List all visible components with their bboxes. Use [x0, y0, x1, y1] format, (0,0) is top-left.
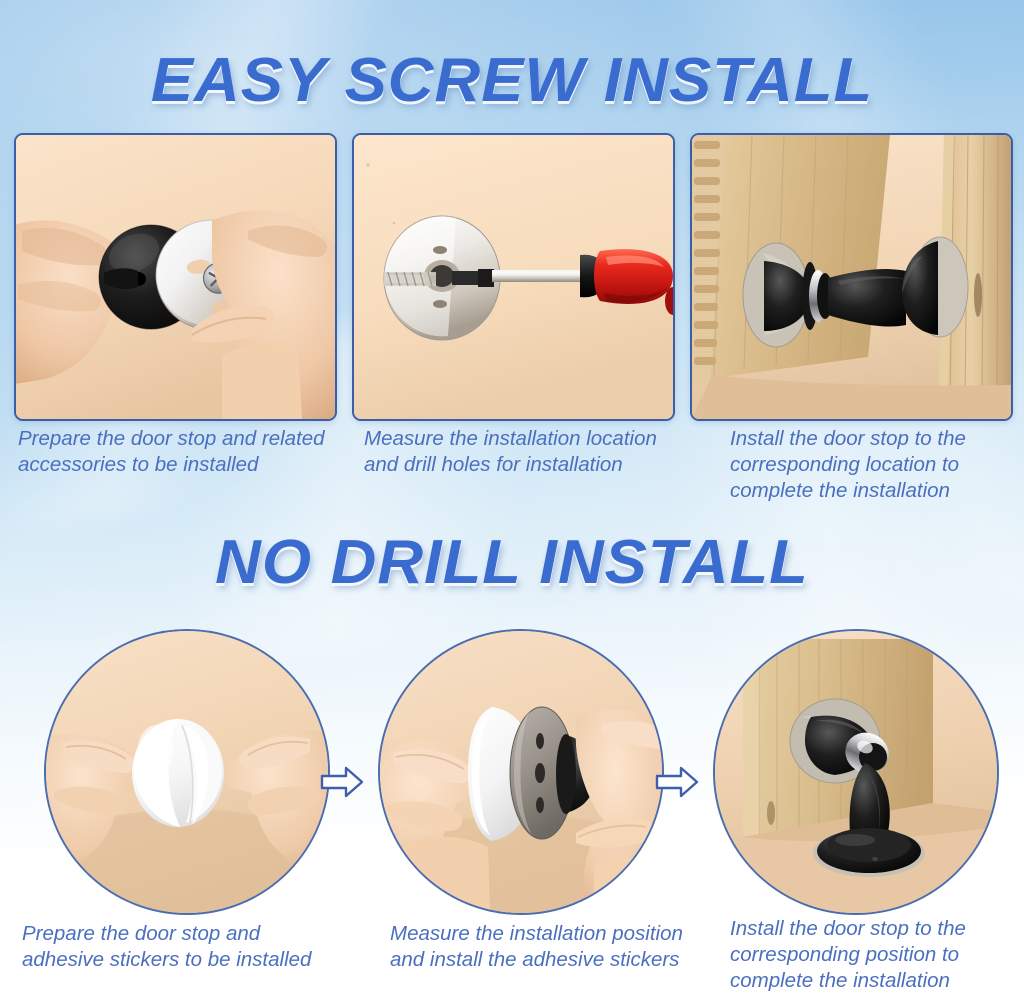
step-image-attach-stickers	[378, 629, 664, 915]
arrow-right-icon-1	[320, 765, 364, 799]
section-heading-easy-screw-install: EASY SCREW INSTALL	[0, 45, 1024, 117]
step-caption-4: Prepare the door stop and adhesive stick…	[22, 921, 322, 973]
step-caption-5: Measure the installation position and in…	[390, 921, 700, 973]
step-image-prepare-stickers	[44, 629, 330, 915]
step-image-drill-holes	[352, 133, 675, 421]
step-image-prepare-parts	[14, 133, 337, 421]
step-caption-2: Measure the installation location and dr…	[364, 426, 694, 478]
illustration-prepare-parts	[16, 135, 335, 419]
arrow-right-icon-2	[655, 765, 699, 799]
illustration-installed-door-stop	[692, 135, 1011, 419]
illustration-screwdriver-on-plate	[354, 135, 673, 419]
infographic-page: EASY SCREW INSTALL	[0, 0, 1024, 997]
section-heading-no-drill-install: NO DRILL INSTALL	[0, 527, 1024, 599]
step-image-install-complete	[690, 133, 1013, 421]
step-caption-6: Install the door stop to the correspondi…	[730, 916, 1024, 994]
step-image-mounted-door-stop	[713, 629, 999, 915]
step-caption-3: Install the door stop to the correspondi…	[730, 426, 1024, 504]
illustration-attach-sticker-to-base	[380, 631, 662, 913]
illustration-mounted-door-stop	[715, 631, 997, 913]
illustration-peeling-sticker	[46, 631, 328, 913]
step-caption-1: Prepare the door stop and related access…	[18, 426, 348, 478]
